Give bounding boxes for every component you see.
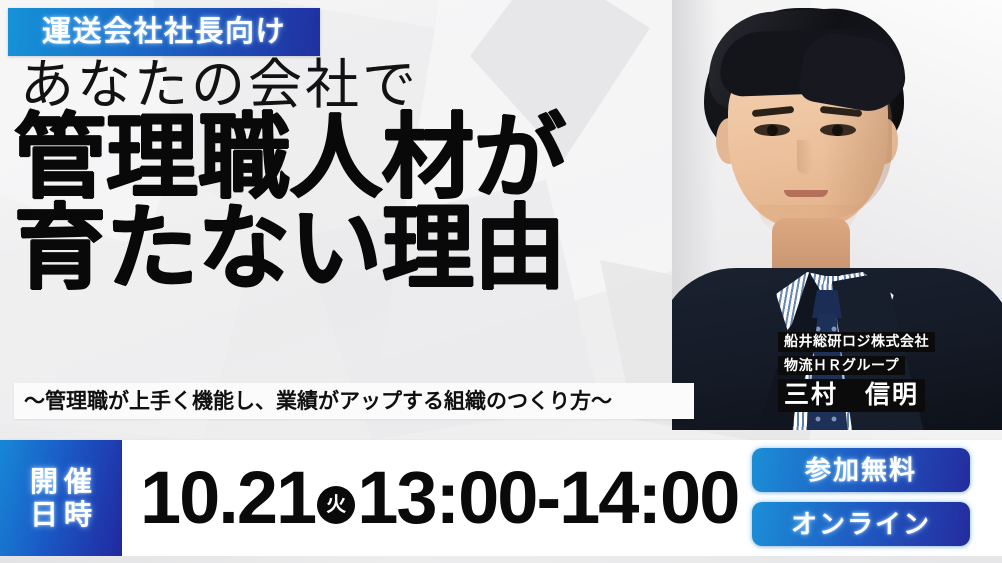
nose — [797, 140, 813, 174]
necktie-knot — [812, 290, 842, 318]
pill-free-entry[interactable]: 参加無料 — [752, 448, 970, 492]
pill-online[interactable]: オンライン — [752, 502, 970, 546]
pill-free-entry-label: 参加無料 — [805, 457, 917, 483]
schedule-tag-line-1: 開催 — [24, 465, 98, 498]
seminar-banner: 運送会社社長向け あなたの会社で 管理職人材が 育たない理由 〜管理職が上手く機… — [0, 0, 1002, 563]
headline-line-2: 管理職人材が — [14, 114, 714, 202]
audience-badge-label: 運送会社社長向け — [42, 18, 286, 47]
day-of-week-icon: 火 — [317, 486, 355, 524]
subtitle-text: 〜管理職が上手く機能し、業績がアップする組織のつくり方〜 — [24, 391, 612, 412]
headline-block: あなたの会社で 管理職人材が 育たない理由 — [14, 58, 714, 294]
audience-badge: 運送会社社長向け — [8, 8, 320, 56]
speaker-company: 船井総研ロジ株式会社 — [778, 332, 935, 352]
schedule-datetime: 10.21 火 13:00-14:00 — [140, 440, 738, 556]
headline-line-1: あなたの会社で — [20, 58, 714, 112]
speaker-department: 物流ＨＲグループ — [778, 356, 905, 376]
mouth — [784, 190, 828, 197]
info-pill-group: 参加無料 オンライン — [752, 448, 970, 546]
footer-strip — [0, 556, 1002, 563]
pupil-right — [832, 125, 843, 136]
pupil-left — [767, 125, 778, 136]
schedule-tag-line-2: 日時 — [24, 498, 98, 531]
schedule-time: 13:00-14:00 — [357, 461, 738, 535]
schedule-date: 10.21 — [140, 461, 315, 535]
subtitle-band: 〜管理職が上手く機能し、業績がアップする組織のつくり方〜 — [14, 383, 694, 419]
headline-line-3: 育たない理由 — [14, 205, 714, 293]
pill-online-label: オンライン — [791, 511, 931, 537]
speaker-nameplate: 船井総研ロジ株式会社 物流ＨＲグループ 三村 信明 — [778, 332, 958, 412]
schedule-bar: 開催 日時 10.21 火 13:00-14:00 参加無料 オンライン — [0, 440, 1002, 556]
speaker-name: 三村 信明 — [778, 379, 925, 412]
schedule-tag: 開催 日時 — [0, 440, 122, 556]
